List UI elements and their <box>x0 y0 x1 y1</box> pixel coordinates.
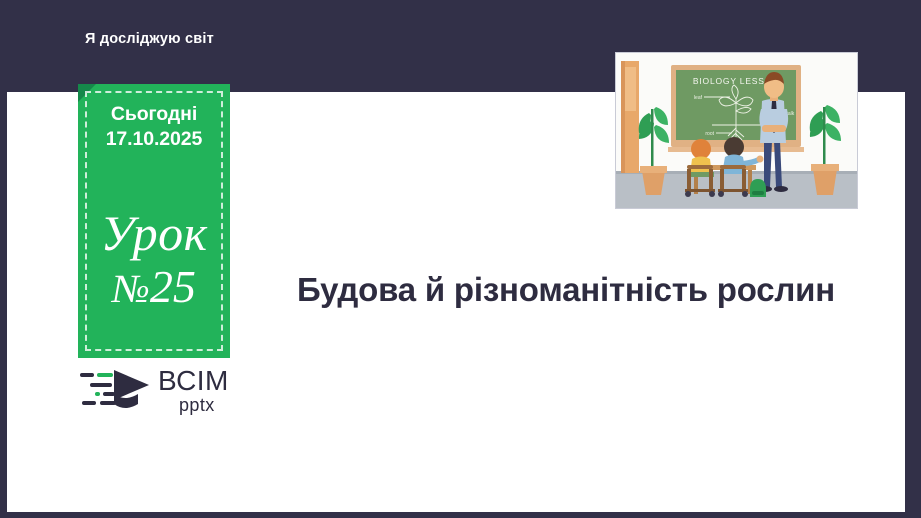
brand-logo: ВСІМ pptx <box>76 365 241 415</box>
lesson-card-content: Сьогодні 17.10.2025 Урок №25 <box>78 84 230 358</box>
lesson-card: Сьогодні 17.10.2025 Урок №25 <box>78 84 230 358</box>
slide-canvas: Я досліджую світ Сьогодні 17.10.2025 Уро… <box>0 0 921 518</box>
lesson-date: 17.10.2025 <box>106 128 203 150</box>
lesson-number: №25 <box>112 264 196 310</box>
brand-subtitle: pptx <box>179 396 229 414</box>
header-caption: Я досліджую світ <box>85 31 214 47</box>
classroom-illustration: BIOLOGY LESSON leaf <box>615 52 858 209</box>
classroom-scene-svg: BIOLOGY LESSON leaf <box>616 53 857 208</box>
number-sign: № <box>112 266 150 311</box>
brand-name: ВСІМ <box>158 367 229 395</box>
page-title: Будова й різноманітність рослин <box>262 266 870 315</box>
today-label: Сьогодні <box>111 103 197 125</box>
lesson-word: Урок <box>100 208 207 258</box>
svg-text:leaf: leaf <box>694 95 703 101</box>
lesson-number-value: 25 <box>150 261 196 312</box>
graduation-cap-icon <box>76 366 154 414</box>
svg-text:root: root <box>705 131 714 137</box>
brand-text: ВСІМ pptx <box>158 367 229 414</box>
